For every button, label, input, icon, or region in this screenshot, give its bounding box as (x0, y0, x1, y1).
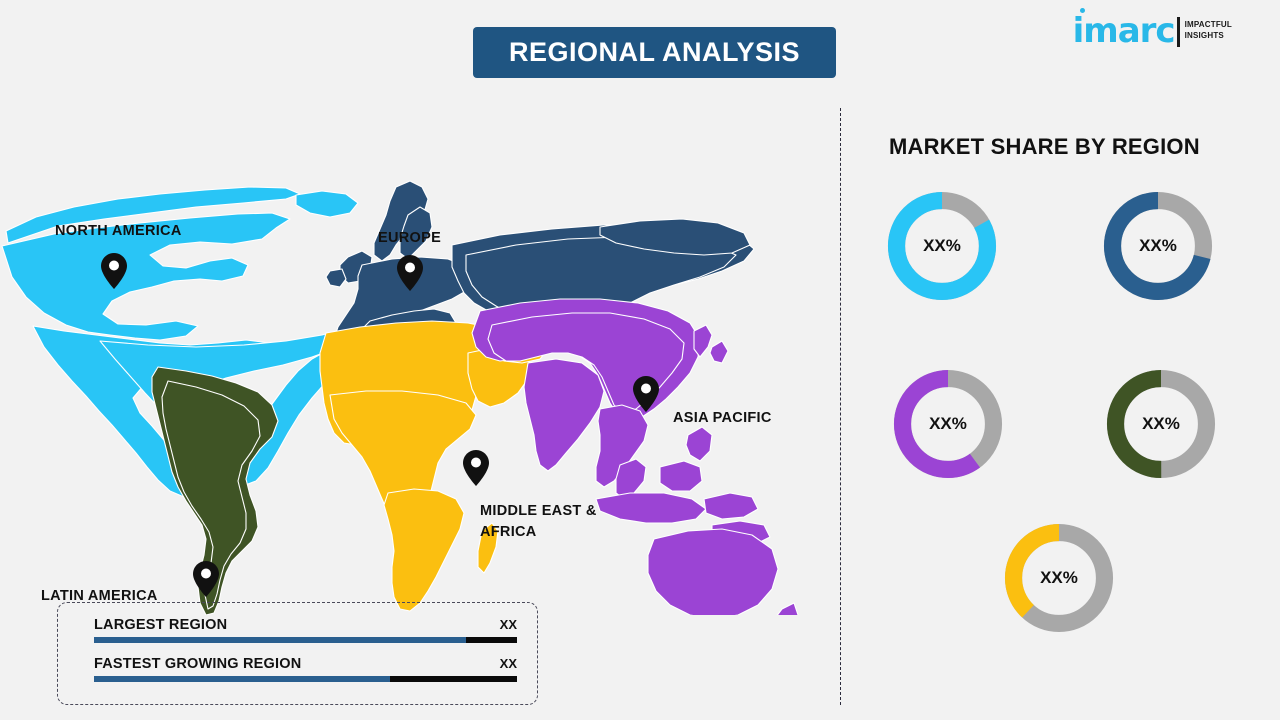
largest-region-bar-fill (94, 637, 466, 643)
largest-region-label: LARGEST REGION (94, 617, 227, 633)
infographic-page: REGIONAL ANALYSIS imarc IMPACTFUL INSIGH… (0, 0, 1280, 720)
logo-wordmark: imarc (1073, 14, 1175, 48)
donut-europe: XX% (1098, 186, 1218, 306)
fastest-growing-region-value: XX (500, 656, 517, 671)
map-pin-asia-pacific-icon[interactable] (633, 376, 659, 412)
vertical-dashed-divider (840, 108, 841, 705)
logo-dot-icon (1080, 8, 1085, 13)
donut-asia-pacific: XX% (888, 364, 1008, 484)
donut-north-america: XX% (882, 186, 1002, 306)
map-label-north-america: NORTH AMERICA (55, 221, 182, 242)
logo-tagline: IMPACTFUL INSIGHTS (1185, 19, 1232, 41)
world-map-svg (0, 95, 830, 615)
fastest-growing-region-bar (94, 676, 517, 682)
world-map: NORTH AMERICA EUROPE ASIA PACIFIC MIDDLE… (0, 95, 830, 615)
donut-latin-america: XX% (1101, 364, 1221, 484)
donut-value-europe: XX% (1098, 186, 1218, 306)
donut-middle-east-africa: XX% (999, 518, 1119, 638)
map-region-middle-east-africa (320, 321, 548, 611)
market-share-title: MARKET SHARE BY REGION (889, 134, 1200, 160)
market-share-donuts: XX% XX% XX% XX% XX% (858, 178, 1258, 658)
fastest-growing-region-bar-fill (94, 676, 390, 682)
imarc-logo: imarc IMPACTFUL INSIGHTS (1073, 14, 1232, 48)
donut-value-latin-america: XX% (1101, 364, 1221, 484)
map-region-asia-pacific (472, 299, 798, 615)
page-title: REGIONAL ANALYSIS (509, 37, 800, 68)
map-pin-latin-america-icon[interactable] (193, 561, 219, 597)
donut-value-asia-pacific: XX% (888, 364, 1008, 484)
map-label-asia-pacific: ASIA PACIFIC (673, 408, 772, 429)
logo-divider (1177, 17, 1180, 47)
region-summary-box: LARGEST REGION XX FASTEST GROWING REGION… (57, 602, 538, 705)
logo-tagline-line1: IMPACTFUL (1185, 19, 1232, 30)
page-title-banner: REGIONAL ANALYSIS (473, 27, 836, 78)
map-pin-middle-east-africa-icon[interactable] (463, 450, 489, 486)
fastest-growing-region-label: FASTEST GROWING REGION (94, 656, 301, 672)
largest-region-row: LARGEST REGION XX (94, 617, 517, 643)
donut-value-middle-east-africa: XX% (999, 518, 1119, 638)
fastest-growing-region-row: FASTEST GROWING REGION XX (94, 656, 517, 682)
donut-value-north-america: XX% (882, 186, 1002, 306)
map-pin-europe-icon[interactable] (397, 255, 423, 291)
map-label-middle-east-africa: MIDDLE EAST & AFRICA (480, 501, 597, 543)
logo-word-text: imarc (1073, 11, 1175, 51)
logo-tagline-line2: INSIGHTS (1185, 30, 1232, 41)
map-pin-north-america-icon[interactable] (101, 253, 127, 289)
largest-region-bar (94, 637, 517, 643)
largest-region-value: XX (500, 617, 517, 632)
map-label-europe: EUROPE (378, 228, 441, 249)
